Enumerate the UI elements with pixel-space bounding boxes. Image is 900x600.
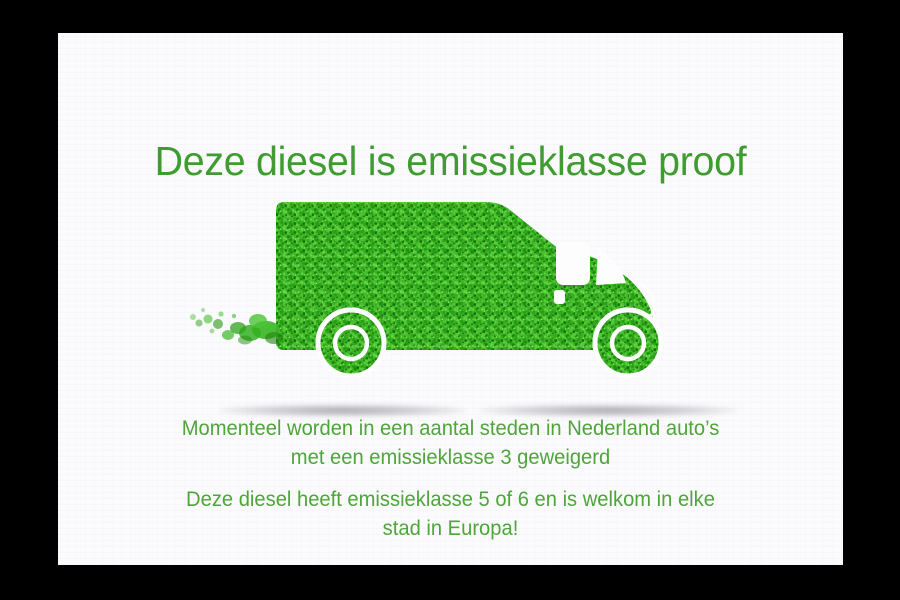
paragraph-emission-welcome: Deze diesel heeft emissieklasse 5 of 6 e… [74,485,828,543]
van-illustration [188,190,728,405]
door-window [556,242,590,285]
paragraph-line: met een emissieklasse 3 geweigerd [74,443,828,472]
paragraph-line: Deze diesel heeft emissieklasse 5 of 6 e… [74,485,828,514]
page-title: Deze diesel is emissieklasse proof [74,137,828,185]
paragraph-emission-refused: Momenteel worden in een aantal steden in… [74,414,828,472]
paragraph-line: stad in Europa! [74,514,828,543]
van-body-texture-overlay [188,190,728,196]
paragraph-line: Momenteel worden in een aantal steden in… [74,414,828,443]
black-frame-border: Deze diesel is emissieklasse proof [0,0,900,600]
door-handle [554,290,565,304]
exhaust-plume [190,308,283,345]
poster-panel: Deze diesel is emissieklasse proof [58,33,843,565]
windshield [596,248,626,285]
van-graphic [188,190,728,405]
